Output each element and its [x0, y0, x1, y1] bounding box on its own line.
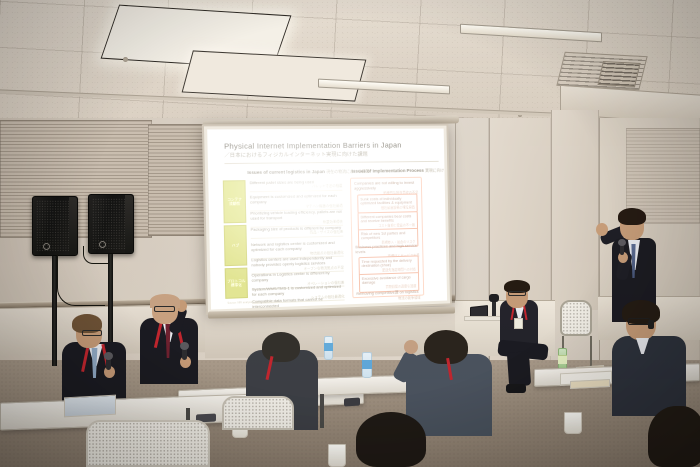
- paper-cup[interactable]: [564, 412, 582, 434]
- bottle-label: [558, 355, 567, 364]
- glasses-icon: [628, 318, 650, 325]
- panelist-right-lower-leg: [507, 351, 531, 386]
- stacking-chair-back[interactable]: [560, 300, 592, 336]
- glasses-icon: [82, 330, 102, 336]
- slide-issue-item: Different pallet sizes are being used パレ…: [250, 179, 343, 192]
- mesh-chair-back[interactable]: [86, 420, 210, 467]
- paper-cup[interactable]: [328, 444, 346, 467]
- slide-title: Physical Internet Implementation Barrier…: [224, 141, 402, 151]
- conference-room-photo: Physical Internet Implementation Barrier…: [0, 0, 700, 467]
- glasses-icon: [508, 291, 526, 296]
- mesh-chair-back[interactable]: [222, 396, 294, 430]
- speaker-grille: [36, 200, 69, 252]
- glasses-icon: [154, 306, 175, 312]
- panelist-right-badge: [514, 318, 523, 329]
- slide-orange-bar: Physical Internet: [425, 174, 440, 296]
- presenter-desk: [464, 316, 504, 321]
- audience-left-head: [262, 332, 300, 362]
- slide-right-footer: Removing competitive源 on logistics 物流の競争…: [356, 289, 420, 302]
- desk-microphone-head: [489, 294, 499, 302]
- microphone-head-icon: [618, 239, 626, 246]
- earpiece-icon: [648, 320, 654, 329]
- panelist-right-shoe: [506, 384, 526, 393]
- speaker-raised-hand: [596, 223, 608, 236]
- slide-category-block: プロトコル 標準化: [225, 268, 248, 299]
- printed-document[interactable]: [64, 395, 116, 418]
- air-vent-icon: [597, 61, 640, 87]
- wall-column: [551, 110, 599, 310]
- speaker-grille: [92, 198, 125, 250]
- projected-slide: Physical Internet Implementation Barrier…: [207, 129, 447, 310]
- slide-category-block: ハブ: [224, 225, 248, 266]
- speaker-logo-icon: [43, 243, 50, 250]
- slide-subtitle: ／日本におけるフィジカルインターネット実現に向けた課題: [224, 151, 368, 159]
- table-leg: [320, 394, 324, 428]
- audience-far-torso: [612, 336, 686, 416]
- microphone-head-icon: [180, 342, 189, 350]
- desk-microphone: [492, 300, 496, 316]
- window-blinds: [148, 124, 210, 236]
- microphone-head-icon: [104, 352, 113, 360]
- slide-issue-item: Packaging size of products is different …: [251, 225, 344, 239]
- projection-screen: Physical Internet Implementation Barrier…: [202, 124, 452, 315]
- smoke-detector-icon: [123, 57, 128, 62]
- bottle-label: [362, 360, 372, 369]
- audience-right-hand: [404, 340, 418, 354]
- slide-category-block: コンテナ 流動性: [223, 180, 247, 223]
- audience-center-head: [356, 412, 426, 467]
- speaker-side-panel: [69, 197, 77, 255]
- speaker-cable: [83, 246, 109, 264]
- bottle-label: [324, 343, 333, 351]
- speaker-hair: [618, 208, 646, 225]
- speaker-side-panel: [125, 195, 133, 253]
- audience-far-right-head: [648, 406, 700, 467]
- slide-title-rule: [224, 161, 438, 164]
- smartphone[interactable]: [344, 397, 360, 406]
